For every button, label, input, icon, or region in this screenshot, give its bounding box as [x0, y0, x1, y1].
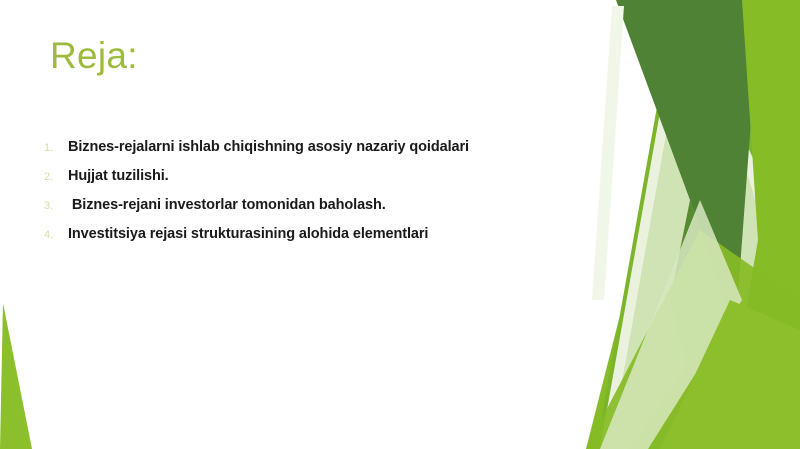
deco-shape-very-pale-wedge — [600, 0, 800, 449]
list-item-label: Hujjat tuzilishi. — [68, 169, 169, 184]
deco-shape-dark-wedge — [616, 0, 760, 335]
list-item-label: Investitsiya rejasi strukturasining aloh… — [68, 227, 428, 242]
deco-shape-pale-sliver — [592, 6, 624, 300]
plan-list: 1. Biznes-rejalarni ishlab chiqishning a… — [44, 140, 584, 256]
list-item: 4. Investitsiya rejasi strukturasining a… — [44, 227, 584, 256]
deco-shape-corner-accent — [660, 300, 800, 449]
list-item-number: 2. — [44, 172, 68, 183]
list-item-number: 1. — [44, 143, 68, 154]
list-item: 2. Hujjat tuzilishi. — [44, 169, 584, 198]
deco-shape-mid-band — [596, 0, 800, 449]
list-item-number: 4. — [44, 230, 68, 241]
deco-shape-bright-base — [586, 0, 800, 449]
slide-canvas: Reja: 1. Biznes-rejalarni ishlab chiqish… — [0, 0, 800, 449]
deco-shape-pale-wedge — [610, 0, 772, 449]
list-item: 3. Biznes-rejani investorlar tomonidan b… — [44, 198, 584, 227]
deco-shape-bright-right-slab — [722, 0, 800, 449]
deco-shape-left-triangle — [0, 303, 32, 449]
deco-shape-bottom-sweep — [586, 230, 800, 449]
list-item-number: 3. — [44, 201, 68, 212]
list-item-label: Biznes-rejalarni ishlab chiqishning asos… — [68, 140, 469, 155]
deco-shape-dark-tail — [670, 200, 735, 420]
page-title: Reja: — [50, 36, 138, 77]
deco-shape-light-lower-wedge — [630, 330, 760, 449]
deco-shape-pale-overlay-band — [600, 200, 742, 449]
list-item-label: Biznes-rejani investorlar tomonidan baho… — [68, 198, 386, 213]
list-item: 1. Biznes-rejalarni ishlab chiqishning a… — [44, 140, 584, 169]
